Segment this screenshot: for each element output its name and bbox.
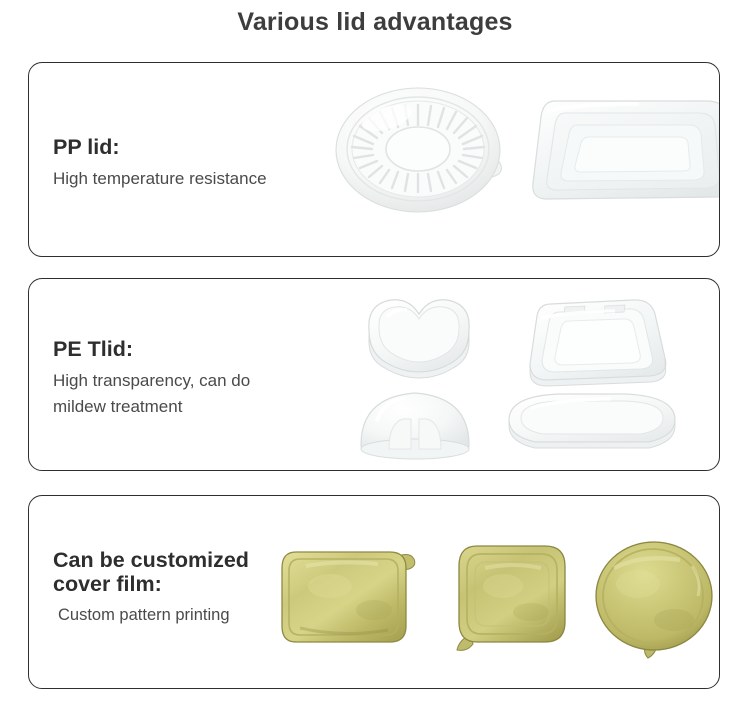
pp-lid-description: High temperature resistance: [53, 166, 343, 192]
cover-film-heading: Can be customized cover film:: [53, 548, 343, 596]
cover-film-description: Custom pattern printing: [53, 603, 343, 628]
round-ribbed-pp-lid: [336, 88, 501, 212]
pp-lid-text-block: PP lid: High temperature resistance: [53, 135, 343, 192]
pe-lid-text-block: PE Tlid: High transparency, can do milde…: [53, 337, 343, 419]
gold-square-foil-lid: [457, 546, 565, 650]
oval-pe-lid: [509, 394, 675, 448]
pe-lid-heading: PE Tlid:: [53, 337, 343, 361]
heart-shaped-pe-lid: [369, 300, 469, 378]
page-title: Various lid advantages: [0, 8, 750, 37]
rectangular-pp-lid: [533, 101, 720, 199]
cover-film-text-block: Can be customized cover film: Custom pat…: [53, 548, 343, 628]
panel-cover-film: Can be customized cover film: Custom pat…: [28, 495, 720, 689]
panel-pp-lid: PP lid: High temperature resistance: [28, 62, 720, 257]
dome-pe-lid: [361, 393, 469, 459]
gold-round-foil-lid: [596, 542, 712, 658]
square-pe-lid: [530, 300, 666, 386]
panel-pe-lid: PE Tlid: High transparency, can do milde…: [28, 278, 720, 471]
pe-lid-description: High transparency, can do mildew treatme…: [53, 368, 343, 419]
pp-lid-heading: PP lid:: [53, 135, 343, 159]
